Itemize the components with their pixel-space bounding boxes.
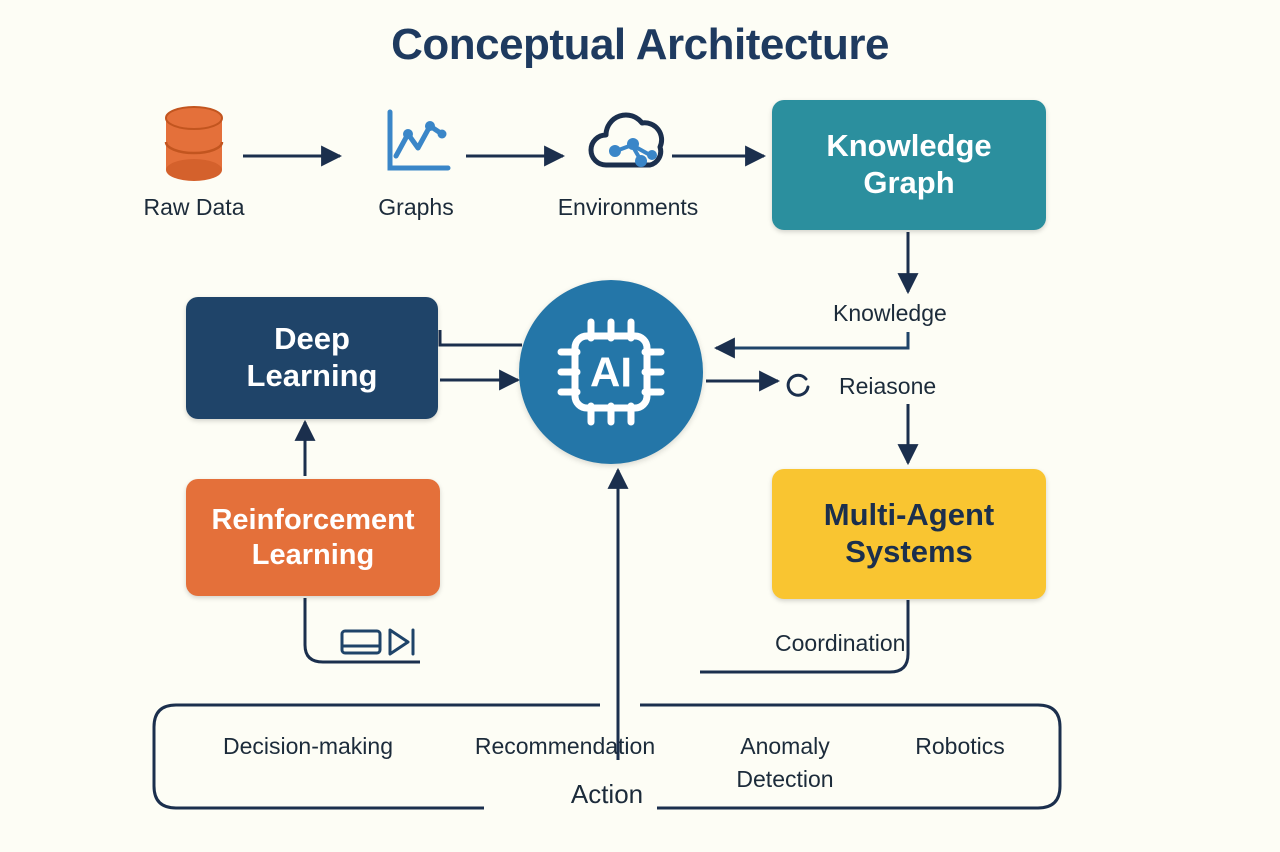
cloud-network-icon <box>540 100 716 188</box>
anomaly-detection-line1: Anomaly <box>710 730 860 763</box>
action-legend-label: Action <box>557 779 657 810</box>
connector-ai-to-deeplearning <box>440 330 522 345</box>
node-deep-learning[interactable]: Deep Learning <box>186 297 438 419</box>
multi-agent-label-line2: Systems <box>824 534 994 571</box>
pipeline-node-graphs[interactable]: Graphs <box>352 100 480 221</box>
multi-agent-label-line1: Multi-Agent <box>824 497 994 534</box>
database-cylinder-icon <box>128 100 260 188</box>
pipeline-node-environments[interactable]: Environments <box>540 100 716 221</box>
pipeline-node-raw-data[interactable]: Raw Data <box>128 100 260 221</box>
edge-label-knowledge: Knowledge <box>833 300 947 327</box>
node-knowledge-graph[interactable]: Knowledge Graph <box>772 100 1046 230</box>
circular-loop-icon <box>784 371 814 401</box>
knowledge-graph-label-line2: Graph <box>826 165 991 202</box>
action-item-recommendation[interactable]: Recommendation <box>440 730 690 763</box>
reinforcement-learning-label-line2: Learning <box>211 538 414 572</box>
ai-hub-label: AI <box>590 349 632 396</box>
action-item-decision-making[interactable]: Decision-making <box>188 730 428 763</box>
knowledge-graph-label-line1: Knowledge <box>826 128 991 165</box>
edge-label-coordination: Coordination <box>775 630 905 657</box>
pipeline-label-environments: Environments <box>540 194 716 221</box>
action-panel: Decision-making Recommendation Anomaly D… <box>154 705 1060 808</box>
node-ai-hub[interactable]: AI <box>519 280 703 464</box>
cpu-chip-icon: AI <box>547 308 675 436</box>
node-multi-agent-systems[interactable]: Multi-Agent Systems <box>772 469 1046 599</box>
line-chart-icon <box>352 100 480 188</box>
reinforcement-learning-label-line1: Reinforcement <box>211 503 414 537</box>
deep-learning-label-line1: Deep <box>247 321 378 358</box>
action-panel-legend: Action <box>154 779 1060 810</box>
diagram-canvas: Conceptual Architecture <box>0 0 1280 852</box>
playback-skip-icon <box>340 625 422 659</box>
node-reinforcement-learning[interactable]: Reinforcement Learning <box>186 479 440 596</box>
deep-learning-label-line2: Learning <box>247 358 378 395</box>
page-title: Conceptual Architecture <box>0 20 1280 70</box>
edge-label-reasone: Reiasone <box>839 373 936 400</box>
pipeline-label-raw-data: Raw Data <box>128 194 260 221</box>
pipeline-label-graphs: Graphs <box>352 194 480 221</box>
arrow-knowledge-to-ai <box>716 332 908 348</box>
action-item-robotics[interactable]: Robotics <box>880 730 1040 763</box>
